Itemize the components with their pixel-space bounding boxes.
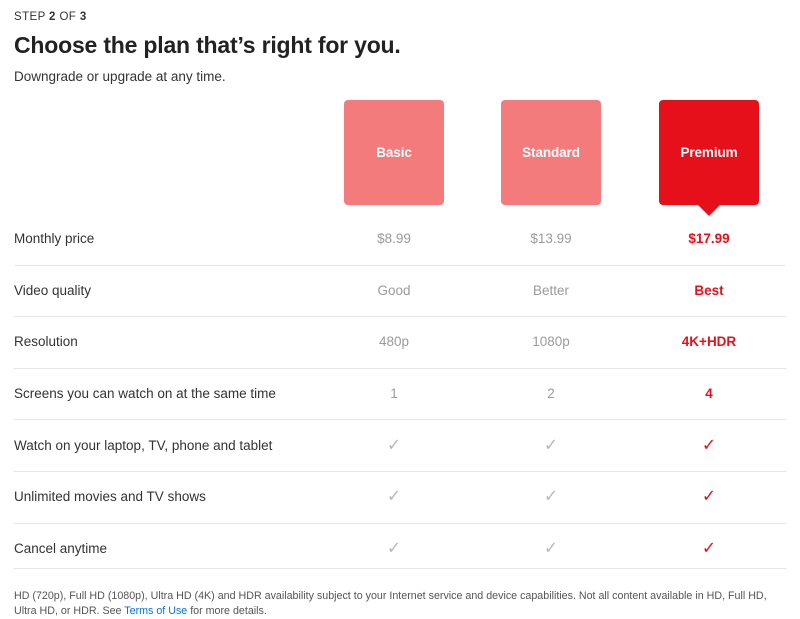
feature-label: Resolution (14, 333, 78, 351)
plan-card-standard[interactable]: Standard (501, 100, 601, 205)
cell-basic: ✓ (344, 436, 444, 455)
cell-premium: ✓ (659, 488, 759, 507)
cell-standard: 1080p (501, 333, 601, 351)
cell-basic: Good (344, 282, 444, 300)
checkmark-icon: ✓ (387, 436, 401, 454)
footnote-text-after-link: for more details. (187, 605, 267, 617)
plan-cards-row: Basic Standard Premium (0, 100, 800, 218)
table-row: Screens you can watch on at the same tim… (14, 368, 786, 420)
cell-basic: 480p (344, 333, 444, 351)
table-bottom-divider (14, 568, 786, 569)
checkmark-icon: ✓ (544, 436, 558, 454)
step-current-number: 2 (49, 11, 56, 23)
plan-comparison-table: Monthly price $8.99 $13.99 $17.99 Video … (14, 214, 786, 574)
feature-label: Screens you can watch on at the same tim… (14, 385, 276, 403)
plan-card-basic[interactable]: Basic (344, 100, 444, 205)
terms-of-use-link[interactable]: Terms of Use (124, 605, 187, 617)
cell-basic: 1 (344, 385, 444, 403)
cell-standard: ✓ (501, 539, 601, 558)
table-row: Monthly price $8.99 $13.99 $17.99 (14, 214, 786, 265)
step-of-text: OF (59, 11, 76, 23)
cell-basic: $8.99 (344, 230, 444, 248)
table-row: Resolution 480p 1080p 4K+HDR (14, 316, 786, 368)
cell-standard: $13.99 (501, 230, 601, 248)
checkmark-icon: ✓ (387, 539, 401, 557)
checkmark-icon: ✓ (702, 539, 716, 557)
cell-premium: 4K+HDR (659, 333, 759, 351)
cell-standard: 2 (501, 385, 601, 403)
page-title: Choose the plan that’s right for you. (14, 31, 786, 59)
cell-premium: ✓ (659, 539, 759, 558)
legal-footnote: HD (720p), Full HD (1080p), Ultra HD (4K… (14, 589, 786, 619)
checkmark-icon: ✓ (544, 488, 558, 506)
step-indicator: STEP 2 OF 3 (14, 0, 786, 24)
cell-premium: ✓ (659, 436, 759, 455)
cell-basic: ✓ (344, 539, 444, 558)
checkmark-icon: ✓ (544, 539, 558, 557)
table-row: Unlimited movies and TV shows ✓ ✓ ✓ (14, 471, 786, 523)
feature-label: Watch on your laptop, TV, phone and tabl… (14, 437, 272, 455)
feature-label: Cancel anytime (14, 540, 107, 558)
feature-label: Monthly price (14, 230, 94, 248)
checkmark-icon: ✓ (702, 488, 716, 506)
cell-standard: ✓ (501, 436, 601, 455)
cell-standard: ✓ (501, 488, 601, 507)
plan-card-premium[interactable]: Premium (659, 100, 759, 205)
cell-premium: $17.99 (659, 230, 759, 248)
step-prefix-text: STEP (14, 11, 45, 23)
plan-card-standard-label: Standard (522, 145, 580, 160)
page-subtitle: Downgrade or upgrade at any time. (14, 68, 786, 86)
table-row: Watch on your laptop, TV, phone and tabl… (14, 419, 786, 471)
plan-card-basic-label: Basic (376, 145, 412, 160)
cell-basic: ✓ (344, 488, 444, 507)
checkmark-icon: ✓ (387, 488, 401, 506)
feature-label: Video quality (14, 282, 91, 300)
plan-card-premium-label: Premium (680, 145, 737, 160)
table-row: Cancel anytime ✓ ✓ ✓ (14, 523, 786, 575)
feature-label: Unlimited movies and TV shows (14, 488, 206, 506)
cell-standard: Better (501, 282, 601, 300)
cell-premium: Best (659, 282, 759, 300)
checkmark-icon: ✓ (702, 436, 716, 454)
cell-premium: 4 (659, 385, 759, 403)
plan-selection-page: STEP 2 OF 3 Choose the plan that’s right… (0, 0, 800, 614)
step-total-number: 3 (80, 11, 87, 23)
table-row: Video quality Good Better Best (14, 265, 786, 317)
